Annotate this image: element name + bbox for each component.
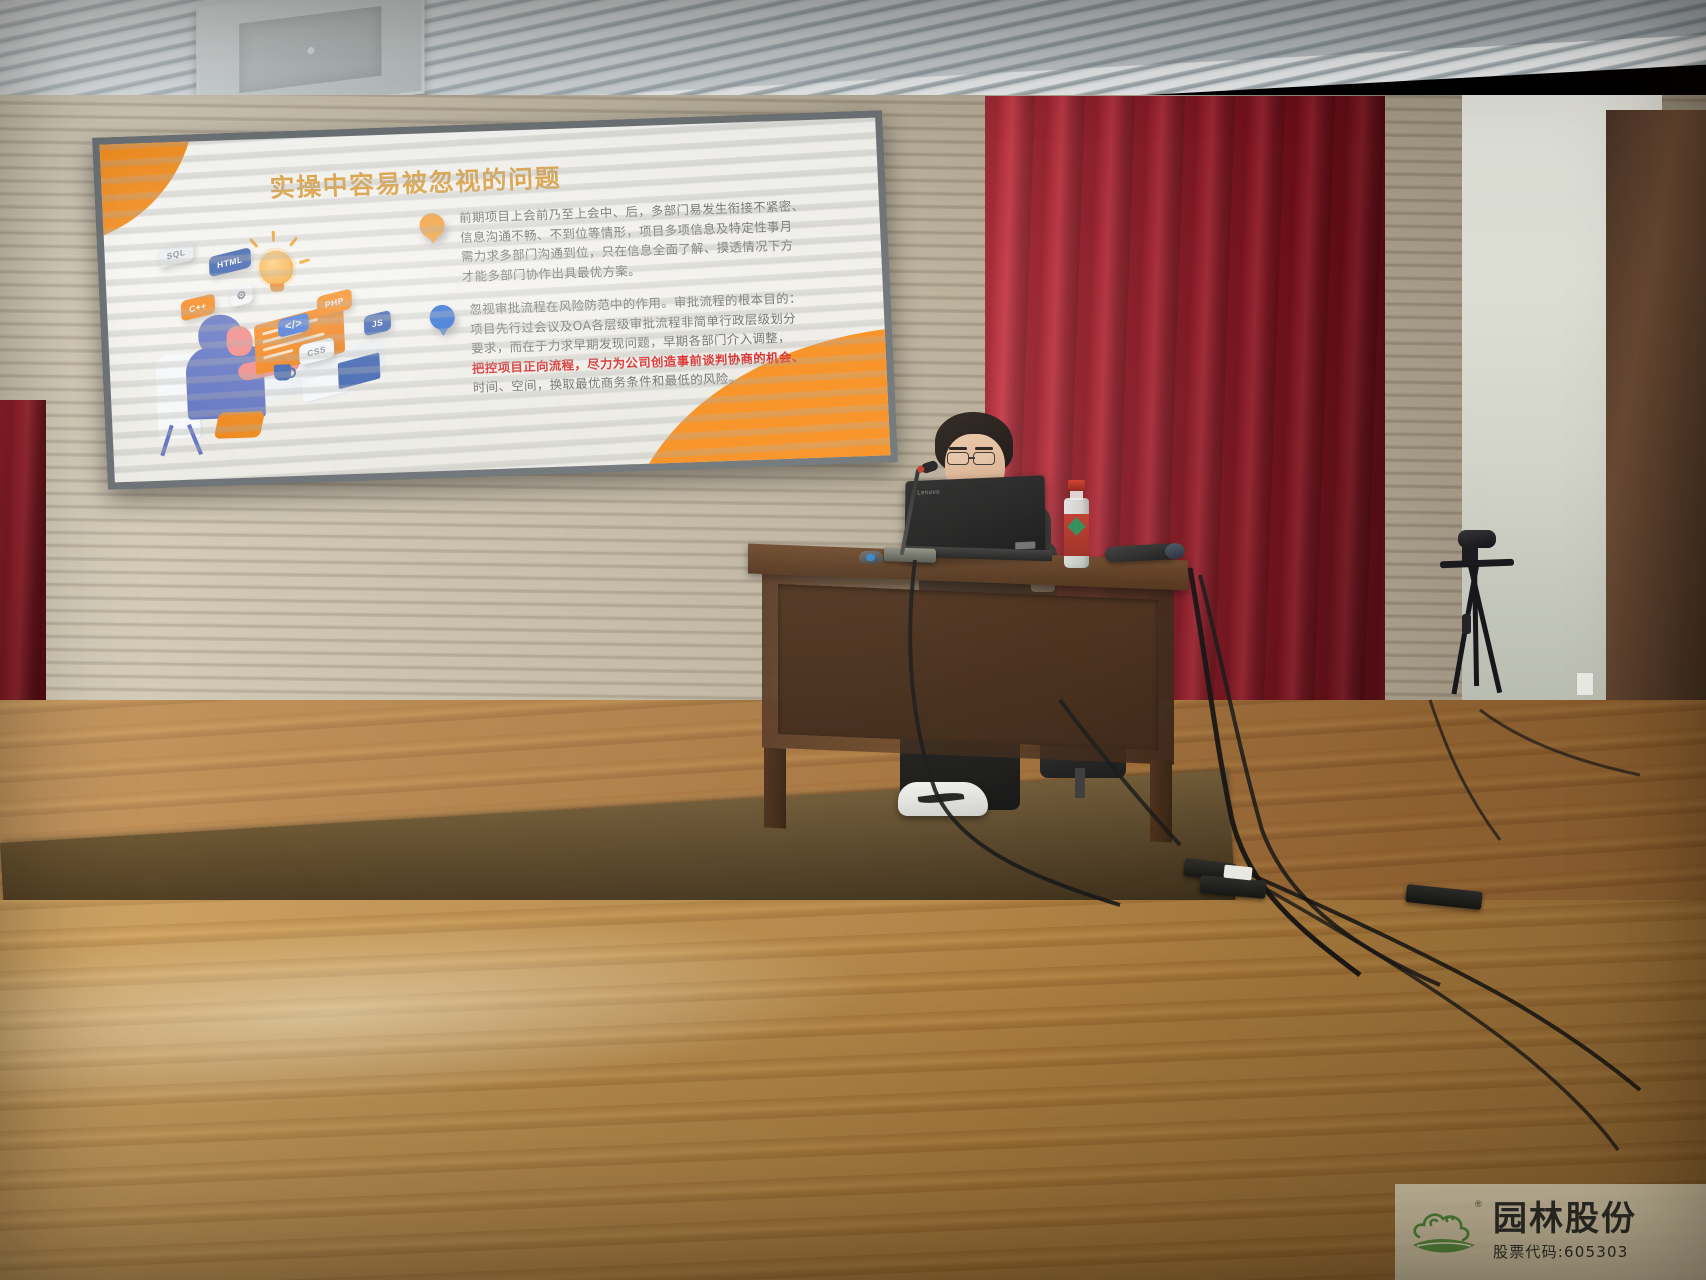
camcorder-on-tripod [1432,530,1524,720]
bottle-label [1064,514,1089,556]
slide-bullet-1: 壹 前期项目上会前乃至上会中、后，多部门易发生衔接不紧密、 信息沟通不畅、不到位… [419,195,852,288]
tripod-leg [1472,566,1479,686]
laptop-brand-label: Lenovo [917,490,940,497]
tag-sql: SQL [158,240,194,269]
tag-js: JS [364,310,392,337]
bullet-marker-2: 贰 [429,304,455,330]
gear-icon: ⚙ [230,283,253,308]
bullet-1-text: 前期项目上会前乃至上会中、后，多部门易发生衔接不紧密、 信息沟通不畅、不到位等情… [459,195,852,287]
computer-mouse[interactable] [859,551,883,564]
bottle-cap [1068,480,1085,491]
tag-html: HTML [209,247,251,277]
bulb-ray [249,238,259,248]
coffee-mug-icon [274,364,292,381]
illustration-person-face [226,325,253,356]
eyeglasses-lens-right [973,452,995,465]
wood-door-frame [1606,110,1706,730]
speaker-eyebrow-right [975,447,993,450]
bulb-ray [299,258,310,264]
tripod-knob [1462,614,1471,634]
power-plug [1223,865,1252,881]
curtain-shading-left [0,400,46,722]
illustration-person-body [185,345,266,420]
slide-bullet-2: 贰 忽视审批流程在风险防范中的作用。审批流程的根本目的： 项目先行过会议及OA各… [429,286,865,399]
bottle-neck [1070,490,1083,500]
bullet-marker-1: 壹 [419,213,445,239]
company-name: 园林股份 [1493,1202,1637,1238]
eyeglasses-bridge [969,457,975,459]
orange-corner-shape-top-left [100,118,202,247]
red-stage-curtain-left [0,400,46,722]
photo-scene: 实操中容易被忽视的问题 [0,0,1706,1280]
developer-at-desk-illustration: SQL HTML C++ PHP JS CSS ⚙ </> [146,231,395,439]
company-watermark: ® 园林股份 股票代码:605303 [1395,1184,1706,1280]
bulb-ray [272,231,275,242]
registered-mark: ® [1475,1199,1482,1209]
illustration-person-leg [214,411,265,439]
tag-php: PHP [317,288,353,317]
microphone-base [884,547,936,563]
slide-title: 实操中容易被忽视的问题 [269,159,562,205]
presenter-desk [748,552,1188,832]
tree-canopy-logo: ® [1405,1201,1483,1263]
water-bottle [1064,480,1089,568]
bullet-2-text: 忽视审批流程在风险防范中的作用。审批流程的根本目的： 项目先行过会议及OA各层级… [469,286,865,398]
eyeglasses-lens-left [947,452,969,465]
watermark-text-group: 园林股份 股票代码:605303 [1493,1202,1637,1262]
wall-switch[interactable] [1576,672,1594,696]
projection-screen-frame: 实操中容易被忽视的问题 [92,110,898,489]
lightbulb-icon [259,250,295,285]
desk-front-panel [778,584,1158,750]
stock-code: 股票代码:605303 [1493,1241,1637,1262]
presentation-slide[interactable]: 实操中容易被忽视的问题 [100,118,891,483]
laptop-badge [1015,541,1035,549]
desk-leg-left [764,747,786,828]
speaker-eyebrow-left [949,447,967,450]
desk-leg-right [1150,759,1172,842]
bulb-ray [289,236,298,247]
